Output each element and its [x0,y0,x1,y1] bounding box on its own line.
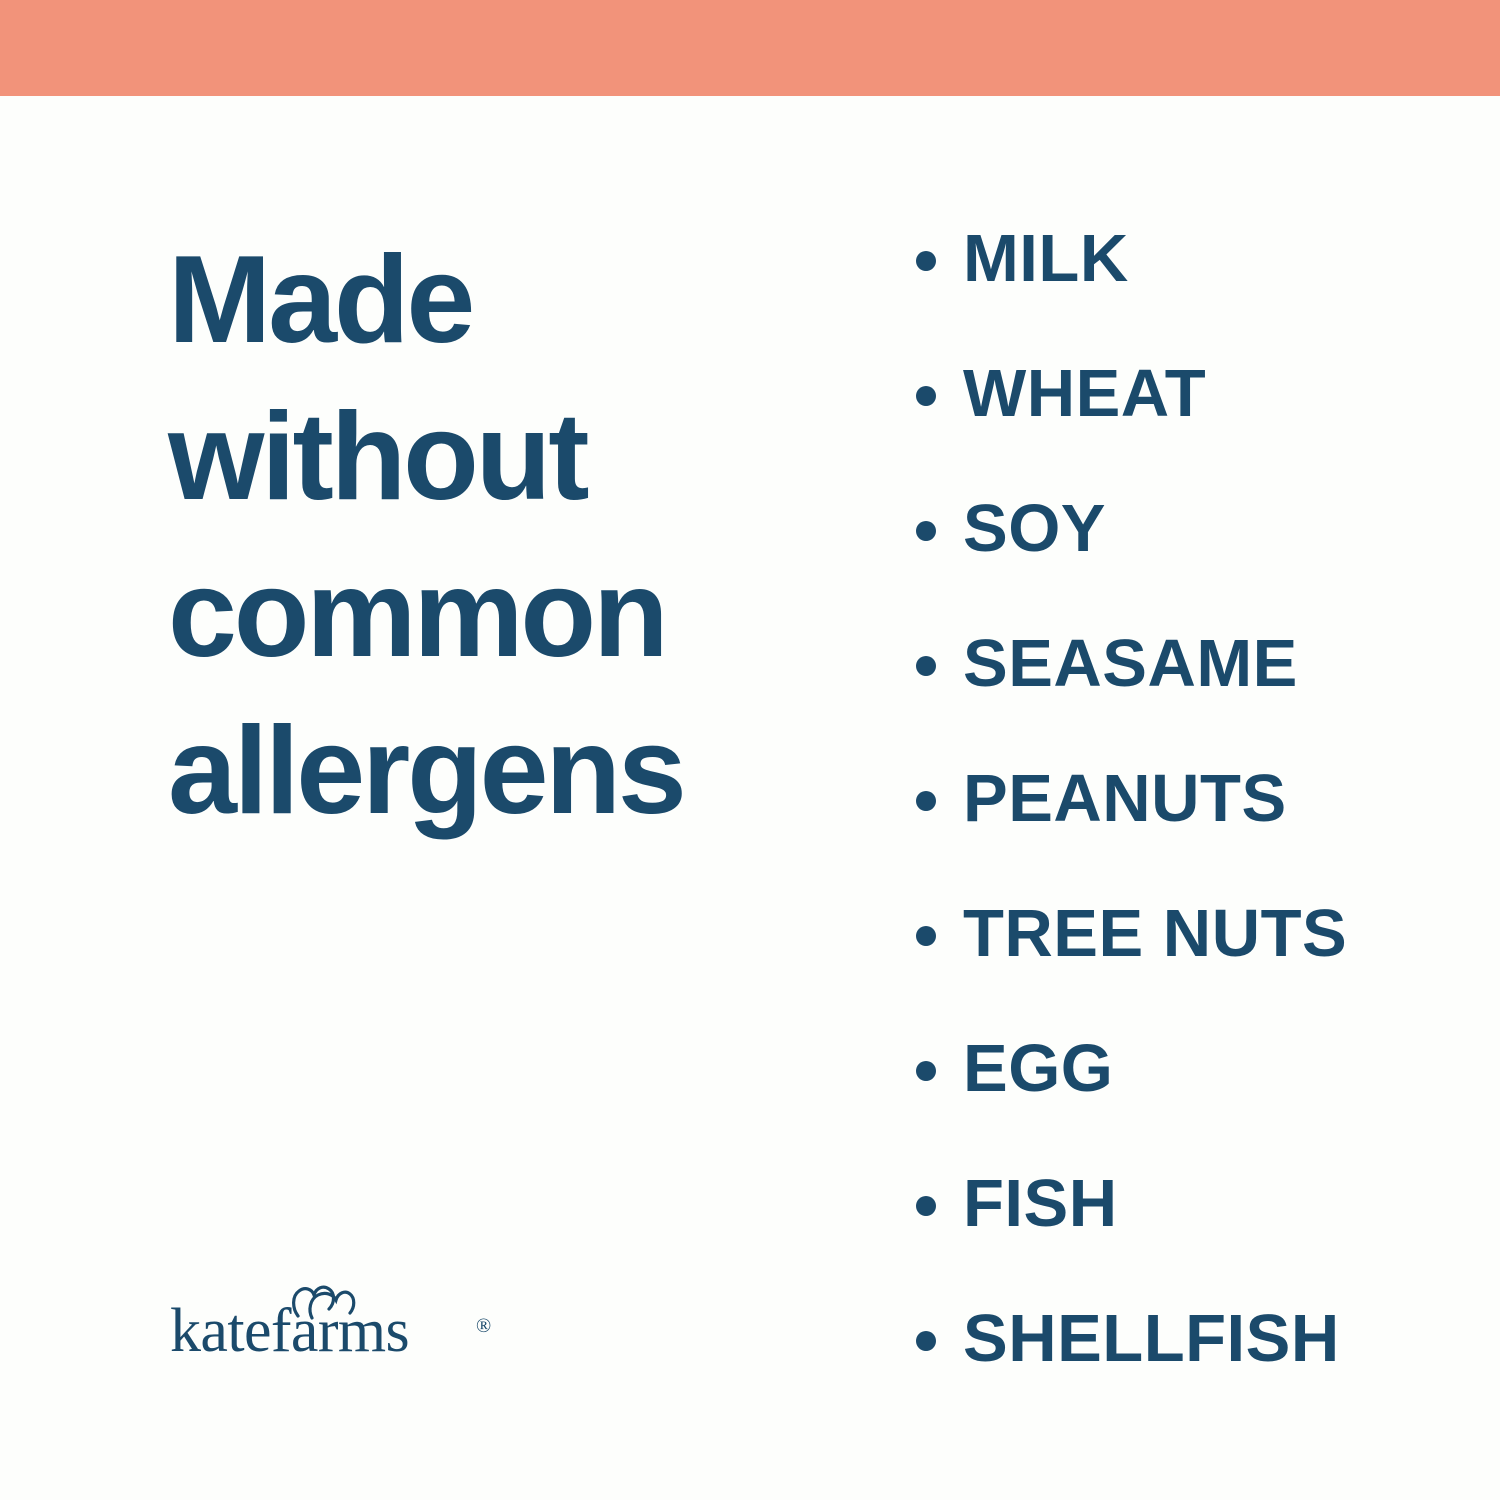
headline-line-2: without [168,379,868,536]
logo-wordmark: katefarms [170,1300,409,1362]
list-item: SEASAME [963,630,1443,765]
list-item: SHELLFISH [963,1305,1443,1440]
top-coral-band [0,0,1500,96]
brand-logo: katefarms ® [170,1288,500,1362]
headline-line-3: common [168,536,868,693]
headline-line-4: allergens [168,693,868,850]
list-item: MILK [963,225,1443,360]
allergen-list: MILK WHEAT SOY SEASAME PEANUTS TREE NUTS… [963,225,1443,1440]
list-item: SOY [963,495,1443,630]
allergen-infographic-page: Made without common allergens MILK WHEAT… [0,0,1500,1500]
list-item: EGG [963,1035,1443,1170]
logo-mark: katefarms ® [170,1288,500,1362]
list-item: TREE NUTS [963,900,1443,1035]
headline-line-1: Made [168,222,868,379]
list-item: PEANUTS [963,765,1443,900]
registered-trademark-symbol: ® [476,1316,491,1336]
list-item: WHEAT [963,360,1443,495]
list-item: FISH [963,1170,1443,1305]
page-title: Made without common allergens [168,222,868,850]
